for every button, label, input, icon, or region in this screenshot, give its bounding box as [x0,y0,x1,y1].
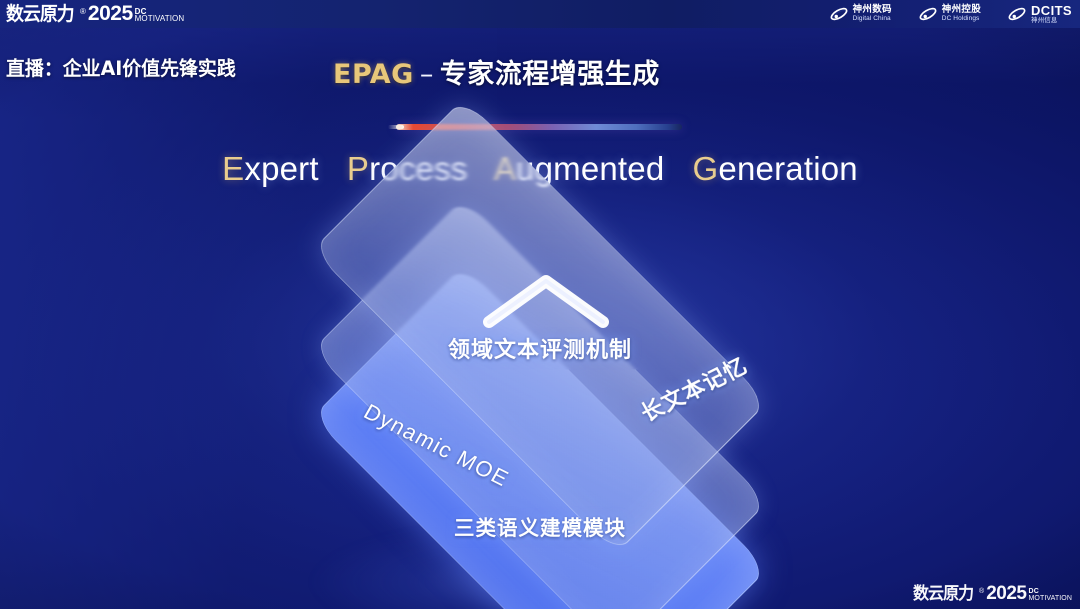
partner-name-cn: 神州数码 [853,5,892,15]
watermark-year: 2025 [986,585,1026,603]
partner-name-en: DCITS [1031,4,1072,17]
swirl-icon [829,4,849,24]
header-bar: 数云原力 ® 2025 DC MOTIVATION 神州数码 D [0,0,1080,28]
layer-label-top: 领域文本评测机制 [0,332,1080,364]
subtitle-rest: xpert [244,150,318,187]
watermark-logo: 数云原力 ® 2025 DC MOTIVATION [907,585,1072,603]
watermark-registered-mark: ® [979,588,984,596]
brand-motivation-text: MOTIVATION [135,15,185,23]
title-chinese: 专家流程增强生成 [440,59,660,90]
partner-logo-text: 神州数码 Digital China [853,5,892,23]
layer-label-bottom: 三类语义建模模块 [0,511,1080,541]
watermark-dc-motivation: DC MOTIVATION [1028,589,1072,602]
watermark-name-cn: 数云原力 [913,586,973,603]
brand-name-cn: 数云原力 [6,5,74,24]
partner-logo-text: 神州控股 DC Holdings [942,5,981,23]
subtitle-initial: E [222,150,244,187]
slide-canvas: 数云原力 ® 2025 DC MOTIVATION 神州数码 D [0,0,1080,609]
brand-logo: 数云原力 ® 2025 DC MOTIVATION [0,4,184,24]
swirl-icon [918,4,938,24]
watermark-motivation-text: MOTIVATION [1028,595,1072,602]
subtitle-word-expert: Expert [222,150,319,187]
brand-year: 2025 [88,4,133,24]
title-acronym: EPAG [333,59,414,90]
chevron-up-icon [481,272,611,330]
page-title: EPAG–专家流程增强生成 [333,52,660,91]
partner-logo-group: 神州数码 Digital China 神州控股 DC Holdings [829,4,1080,25]
swirl-icon [1007,4,1027,24]
partner-name-en: DC Holdings [942,16,981,23]
partner-logo-dc-holdings: 神州控股 DC Holdings [918,4,981,24]
partner-logo-text: DCITS 神州信息 [1031,4,1072,25]
brand-registered-mark: ® [80,8,86,16]
partner-name-cn: 神州控股 [942,5,981,15]
partner-name-en: Digital China [853,16,892,23]
live-broadcast-label: 直播：企业AI价值先锋实践 [6,52,236,81]
brand-dc-motivation: DC MOTIVATION [135,8,185,23]
title-dash: – [414,59,440,90]
partner-logo-digital-china: 神州数码 Digital China [829,4,892,24]
partner-logo-dcits: DCITS 神州信息 [1007,4,1072,25]
partner-name-cn: 神州信息 [1031,18,1072,25]
